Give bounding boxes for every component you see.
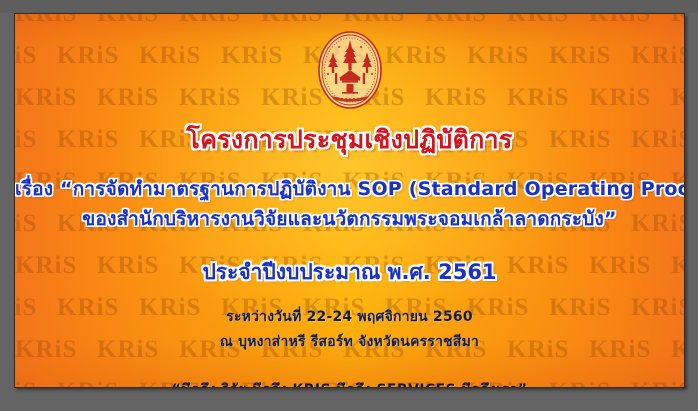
poster-subject-line-2: ของสำนักบริหารงานวิจัยและนวัตกรรมพระจอมเ… <box>15 204 684 234</box>
kmitl-emblem-icon <box>312 26 388 114</box>
poster-date-line: ระหว่างวันที่ 22-24 พฤศจิกายน 2560 <box>15 306 684 328</box>
poster-venue-line: ณ บุหงาส่าหรี รีสอร์ท จังหวัดนครราชสีมา <box>15 331 684 353</box>
poster-subject-line-1: เรื่อง “การจัดทำมาตรฐานการปฏิบัติงาน SOP… <box>15 174 684 204</box>
event-poster-banner: KRiSKRiSKRiSKRiSKRiSKRiSKRiSKRiSKRiSKRiS… <box>14 13 685 388</box>
poster-slogan: “นึกถึง วิจัย นึกถึง KRIS นึกถึง SERVICE… <box>15 379 684 388</box>
poster-headline: โครงการประชุมเชิงปฏิบัติการ <box>15 120 684 160</box>
poster-fiscal-year: ประจำปีงบประมาณ พ.ศ. 2561 <box>15 256 684 289</box>
poster-outer-frame: KRiSKRiSKRiSKRiSKRiSKRiSKRiSKRiSKRiSKRiS… <box>0 0 698 411</box>
